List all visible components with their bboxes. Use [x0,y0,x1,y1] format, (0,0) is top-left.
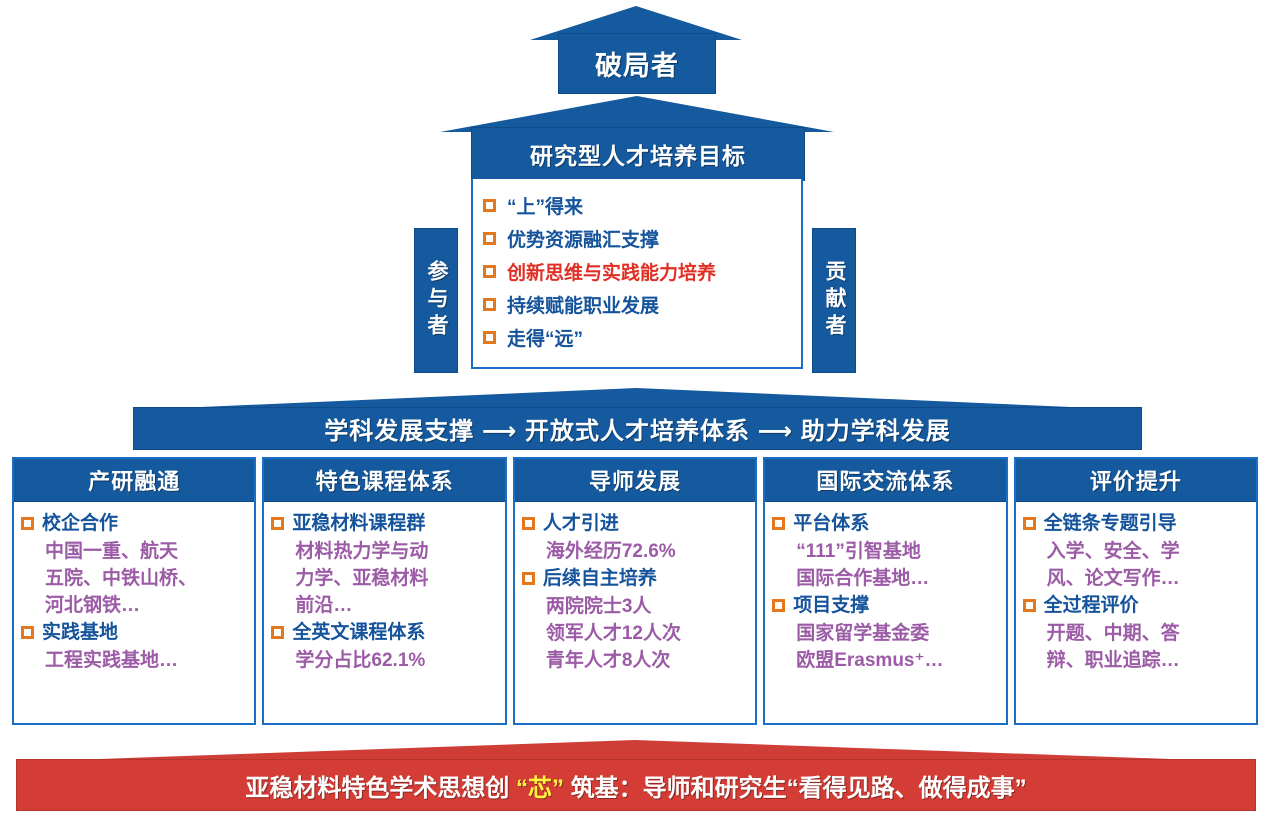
item-detail: 学分占比62.1% [271,647,500,674]
square-bullet-icon [483,232,496,245]
item-detail: 两院院士3人 [522,593,751,620]
square-bullet-icon [483,331,496,344]
item-detail: 国家留学基金委 [772,620,1001,647]
pillar-participant: 参与者 [414,228,458,373]
list-item: 实践基地 [21,619,250,646]
item-label: 全链条专题引导 [1044,510,1177,537]
square-bullet-icon [772,517,785,530]
goal-label: 持续赋能职业发展 [507,291,659,318]
pillar-left-label: 参与者 [421,260,451,341]
item-label: 项目支撑 [793,592,869,619]
column-header: 特色课程体系 [264,459,504,502]
goal-item: 持续赋能职业发展 [483,288,801,321]
column-header-label: 特色课程体系 [316,464,454,496]
goal-item: 优势资源融汇支撑 [483,222,801,255]
item-label: 全英文课程体系 [292,619,425,646]
tier3-banner: 学科发展支撑 ⟶ 开放式人才培养体系 ⟶ 助力学科发展 [133,407,1142,450]
column-header-label: 国际交流体系 [816,464,954,496]
item-detail: 领军人才12人次 [522,620,751,647]
column-daoshi-fazhan: 导师发展 人才引进 海外经历72.6% 后续自主培养 两院院士3人 领军人才12… [513,457,757,725]
square-bullet-icon [483,265,496,278]
list-item: 全英文课程体系 [271,619,500,646]
column-body: 全链条专题引导 入学、安全、学 风、论文写作… 全过程评价 开题、中期、答 辩、… [1016,502,1256,723]
column-chanyan-rongtong: 产研融通 校企合作 中国一重、航天 五院、中铁山桥、 河北钢铁… 实践基地 工程… [12,457,256,725]
item-label: 平台体系 [793,510,869,537]
pillar-right-label: 贡献者 [819,260,849,341]
item-detail: 五院、中铁山桥、 [21,565,250,592]
footer-banner: 亚稳材料特色学术思想创 “芯” 筑基：导师和研究生“看得见路、做得成事” [16,759,1256,811]
item-detail: 国际合作基地… [772,565,1001,592]
square-bullet-icon [483,199,496,212]
item-label: 亚稳材料课程群 [292,510,425,537]
column-header: 产研融通 [14,459,254,502]
column-header: 导师发展 [515,459,755,502]
item-label: 校企合作 [42,510,118,537]
goal-item: “上”得来 [483,189,801,222]
item-detail: 中国一重、航天 [21,538,250,565]
goal-label: “上”得来 [507,192,583,219]
item-detail: “111”引智基地 [772,538,1001,565]
goal-label: 优势资源融汇支撑 [507,225,659,252]
item-detail: 力学、亚稳材料 [271,565,500,592]
tier3-banner-label: 学科发展支撑 ⟶ 开放式人才培养体系 ⟶ 助力学科发展 [324,411,950,446]
list-item: 全过程评价 [1023,592,1252,619]
tier2-header-label: 研究型人才培养目标 [530,137,746,171]
list-item: 人才引进 [522,510,751,537]
item-detail: 海外经历72.6% [522,538,751,565]
column-body: 亚稳材料课程群 材料热力学与动 力学、亚稳材料 前沿… 全英文课程体系 学分占比… [264,502,504,723]
column-pingjia-tisheng: 评价提升 全链条专题引导 入学、安全、学 风、论文写作… 全过程评价 开题、中期… [1014,457,1258,725]
item-detail: 河北钢铁… [21,592,250,619]
item-label: 全过程评价 [1044,592,1139,619]
item-label: 人才引进 [543,510,619,537]
column-guoji-jiaoliu-tixi: 国际交流体系 平台体系 “111”引智基地 国际合作基地… 项目支撑 国家留学基… [763,457,1007,725]
goal-item: 走得“远” [483,321,801,354]
tier1-box: 破局者 [558,33,716,94]
column-header: 评价提升 [1016,459,1256,502]
tier2-goal-list: “上”得来 优势资源融汇支撑 创新思维与实践能力培养 持续赋能职业发展 走得“远… [471,179,803,369]
column-body: 人才引进 海外经历72.6% 后续自主培养 两院院士3人 领军人才12人次 青年… [515,502,755,723]
item-detail: 辩、职业追踪… [1023,647,1252,674]
footer-text: 亚稳材料特色学术思想创 “芯” 筑基：导师和研究生“看得见路、做得成事” [245,768,1026,803]
column-group: 产研融通 校企合作 中国一重、航天 五院、中铁山桥、 河北钢铁… 实践基地 工程… [12,457,1258,725]
list-item: 全链条专题引导 [1023,510,1252,537]
item-detail: 青年人才8人次 [522,647,751,674]
item-detail: 风、论文写作… [1023,565,1252,592]
pillar-contributor: 贡献者 [812,228,856,373]
list-item: 项目支撑 [772,592,1001,619]
list-item: 后续自主培养 [522,565,751,592]
item-detail: 开题、中期、答 [1023,620,1252,647]
goal-label-highlighted: 创新思维与实践能力培养 [507,258,716,285]
list-item: 亚稳材料课程群 [271,510,500,537]
square-bullet-icon [522,517,535,530]
tier1-title: 破局者 [595,44,679,83]
column-header-label: 评价提升 [1090,464,1182,496]
item-label: 后续自主培养 [543,565,657,592]
square-bullet-icon [1023,599,1036,612]
tier2-header: 研究型人才培养目标 [471,127,805,181]
goal-item: 创新思维与实践能力培养 [483,255,801,288]
goal-label: 走得“远” [507,324,583,351]
column-body: 校企合作 中国一重、航天 五院、中铁山桥、 河北钢铁… 实践基地 工程实践基地… [14,502,254,723]
square-bullet-icon [522,572,535,585]
footer-highlight: “芯” [516,775,564,802]
item-detail: 工程实践基地… [21,647,250,674]
item-detail: 入学、安全、学 [1023,538,1252,565]
square-bullet-icon [21,517,34,530]
square-bullet-icon [1023,517,1036,530]
list-item: 平台体系 [772,510,1001,537]
square-bullet-icon [271,517,284,530]
item-detail: 材料热力学与动 [271,538,500,565]
footer-part2: 筑基：导师和研究生“看得见路、做得成事” [571,775,1027,802]
column-tese-kecheng-tixi: 特色课程体系 亚稳材料课程群 材料热力学与动 力学、亚稳材料 前沿… 全英文课程… [262,457,506,725]
square-bullet-icon [271,626,284,639]
square-bullet-icon [772,599,785,612]
item-detail: 前沿… [271,592,500,619]
column-body: 平台体系 “111”引智基地 国际合作基地… 项目支撑 国家留学基金委 欧盟Er… [765,502,1005,723]
footer-part1: 亚稳材料特色学术思想创 [245,775,509,802]
item-label: 实践基地 [42,619,118,646]
square-bullet-icon [483,298,496,311]
square-bullet-icon [21,626,34,639]
item-detail: 欧盟Erasmus⁺… [772,647,1001,674]
column-header-label: 产研融通 [88,464,180,496]
list-item: 校企合作 [21,510,250,537]
column-header: 国际交流体系 [765,459,1005,502]
column-header-label: 导师发展 [589,464,681,496]
